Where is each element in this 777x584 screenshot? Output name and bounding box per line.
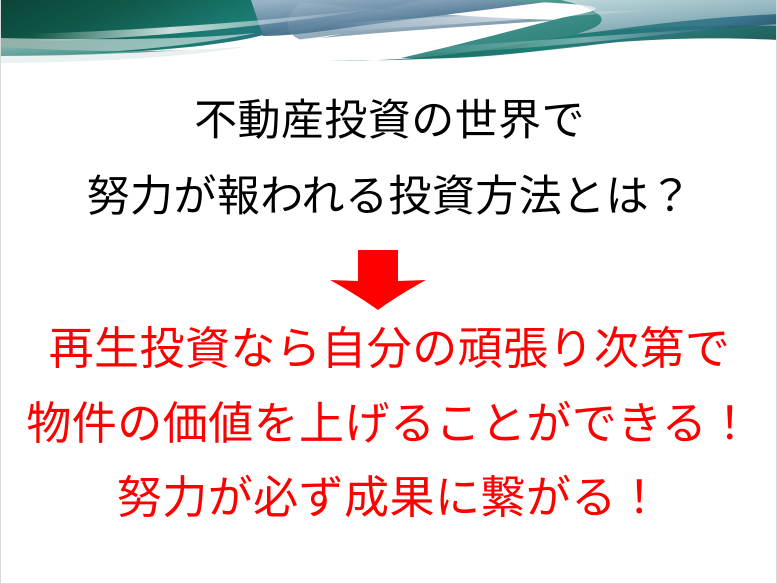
headline-line-2: 努力が報われる投資方法とは？ xyxy=(1,176,777,219)
slide-canvas: 不動産投資の世界で 努力が報われる投資方法とは？ 再生投資なら自分の頑張り次第で… xyxy=(0,0,777,584)
decorative-wave-banner xyxy=(1,0,777,72)
answer-line-2: 物件の価値を上げることができる！ xyxy=(1,401,777,446)
headline-line-1: 不動産投資の世界で xyxy=(1,100,777,143)
down-arrow-shape xyxy=(330,250,426,310)
answer-line-1: 再生投資なら自分の頑張り次第で xyxy=(1,326,777,371)
wave-graphic xyxy=(1,0,777,72)
slide-content: 不動産投資の世界で 努力が報われる投資方法とは？ 再生投資なら自分の頑張り次第で… xyxy=(1,72,777,583)
answer-line-3: 努力が必ず成果に繋がる！ xyxy=(1,475,777,520)
down-arrow-icon xyxy=(330,250,426,310)
